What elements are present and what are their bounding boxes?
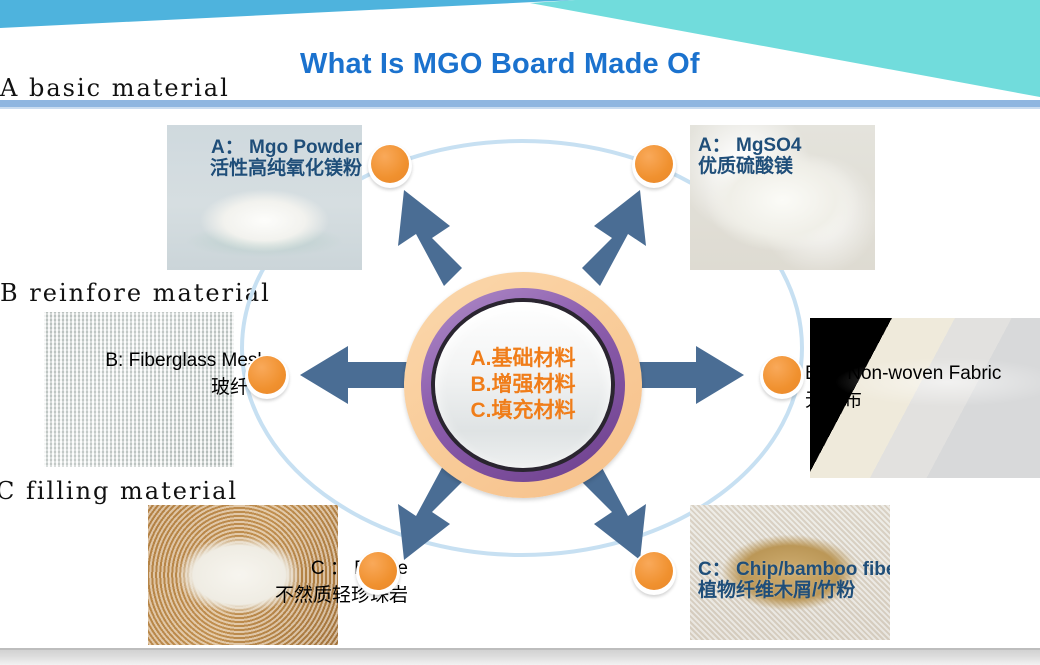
card-caption-en: B: Fiberglass Mesh (18, 350, 268, 372)
arrow-right (630, 346, 744, 404)
hub-inner-disc: A.基础材料 B.增强材料 C.填充材料 (435, 302, 611, 468)
node-dot-icon (763, 356, 801, 394)
slide-canvas: What Is MGO Board Made Of A basic materi… (0, 0, 1040, 665)
card-caption-en: A： MgSO4 (698, 135, 875, 156)
node-dot-icon (635, 552, 673, 590)
card-caption-chip-bamboo-fiber: C： Chip/bamboo fiber 植物纤维木屑/竹粉 (698, 559, 890, 602)
node-dot-icon (371, 145, 409, 183)
card-caption-non-woven-fabric: B ： Non-woven Fabric 无纺布 (805, 358, 1040, 412)
card-mgo-powder[interactable]: A： Mgo Powder 活性高纯氧化镁粉 (167, 125, 362, 270)
arrow-left (300, 346, 414, 404)
node-bottom-left[interactable] (356, 551, 400, 595)
node-bottom-right[interactable] (632, 551, 676, 595)
node-left[interactable] (245, 355, 289, 399)
card-caption-en: C： Chip/bamboo fiber (698, 559, 890, 580)
card-caption-cn: 玻纤布 (18, 372, 268, 399)
card-mgso4[interactable]: A： MgSO4 优质硫酸镁 (690, 125, 875, 270)
node-top-right[interactable] (632, 144, 676, 188)
node-right[interactable] (760, 355, 804, 399)
node-dot-icon (248, 356, 286, 394)
card-caption-mgso4: A： MgSO4 优质硫酸镁 (698, 135, 875, 178)
card-caption-cn: 活性高纯氧化镁粉 (175, 158, 362, 179)
card-caption-fiberglass-mesh: B: Fiberglass Mesh 玻纤布 (18, 350, 268, 399)
node-dot-icon (635, 145, 673, 183)
center-hub[interactable]: A.基础材料 B.增强材料 C.填充材料 (404, 272, 642, 498)
hub-line-b: B.增强材料 (471, 372, 576, 398)
footer-band (0, 650, 1040, 665)
card-caption-cn: 优质硫酸镁 (698, 156, 875, 177)
card-caption-cn: 植物纤维木屑/竹粉 (698, 580, 890, 601)
card-caption-cn: 无纺布 (805, 385, 1040, 412)
card-caption-en: B ： Non-woven Fabric (805, 358, 1040, 385)
node-dot-icon (359, 552, 397, 590)
card-chip-bamboo-fiber[interactable]: C： Chip/bamboo fiber 植物纤维木屑/竹粉 (690, 505, 890, 640)
node-top-left[interactable] (368, 144, 412, 188)
hub-line-c: C.填充材料 (471, 398, 576, 424)
card-caption-mgo-powder: A： Mgo Powder 活性高纯氧化镁粉 (175, 137, 362, 180)
hub-line-a: A.基础材料 (471, 346, 576, 372)
card-caption-en: A： Mgo Powder (175, 137, 362, 158)
